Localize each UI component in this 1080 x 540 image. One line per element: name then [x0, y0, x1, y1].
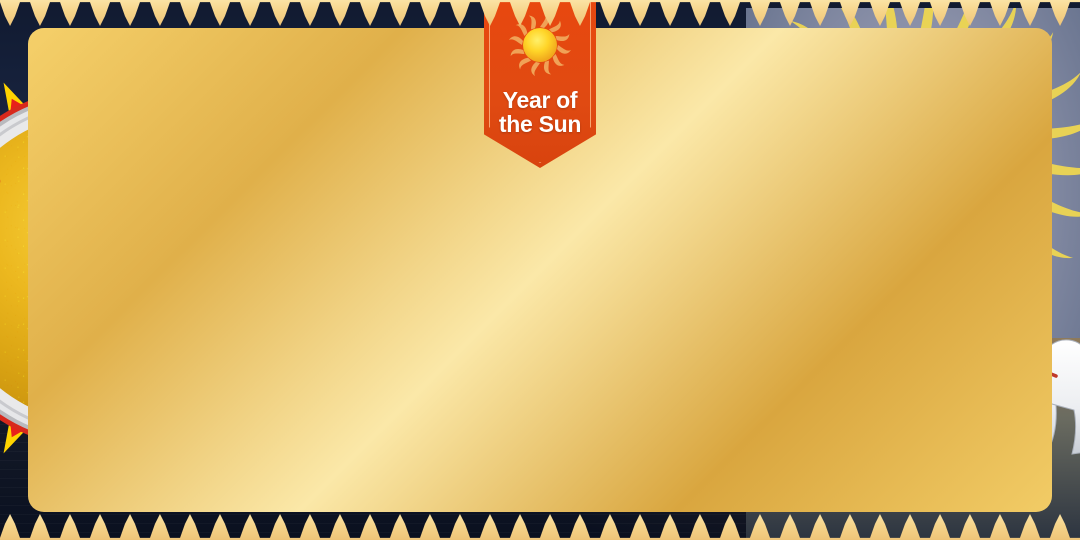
badge-label-line2: the Sun [484, 112, 596, 136]
event-date-text: 14 January 2026, Wednesday, Magh Krishna… [370, 407, 710, 474]
divider-rule-right [567, 379, 726, 380]
surya-dev-illustration [746, 8, 1080, 540]
event-name-ribbon: Magh Mela 2026 Makar Sankranti [300, 178, 780, 226]
badge-label: Year of the Sun [484, 88, 596, 137]
rosette-flower-icon [527, 366, 553, 392]
khichdi-bowl [0, 113, 253, 423]
badge-label-line1: Year of [484, 88, 596, 112]
year-of-the-sun-badge: Year of the Sun [484, 0, 596, 168]
event-name-text: Magh Mela 2026 Makar Sankranti [343, 188, 736, 217]
divider-rule-left [354, 379, 513, 380]
decorative-divider [354, 365, 726, 393]
khichdi-bowl-image [0, 58, 308, 478]
sun-icon [509, 14, 571, 76]
festival-banner: Magh Mela 2026 Makar Sankranti Shahi Sna… [0, 0, 1080, 540]
page-title: Shahi Snan Khichdi Vitaran & Seva [337, 244, 743, 343]
surya-dev-chariot-image [746, 8, 1080, 540]
cilantro-garnish-icon [0, 182, 169, 342]
